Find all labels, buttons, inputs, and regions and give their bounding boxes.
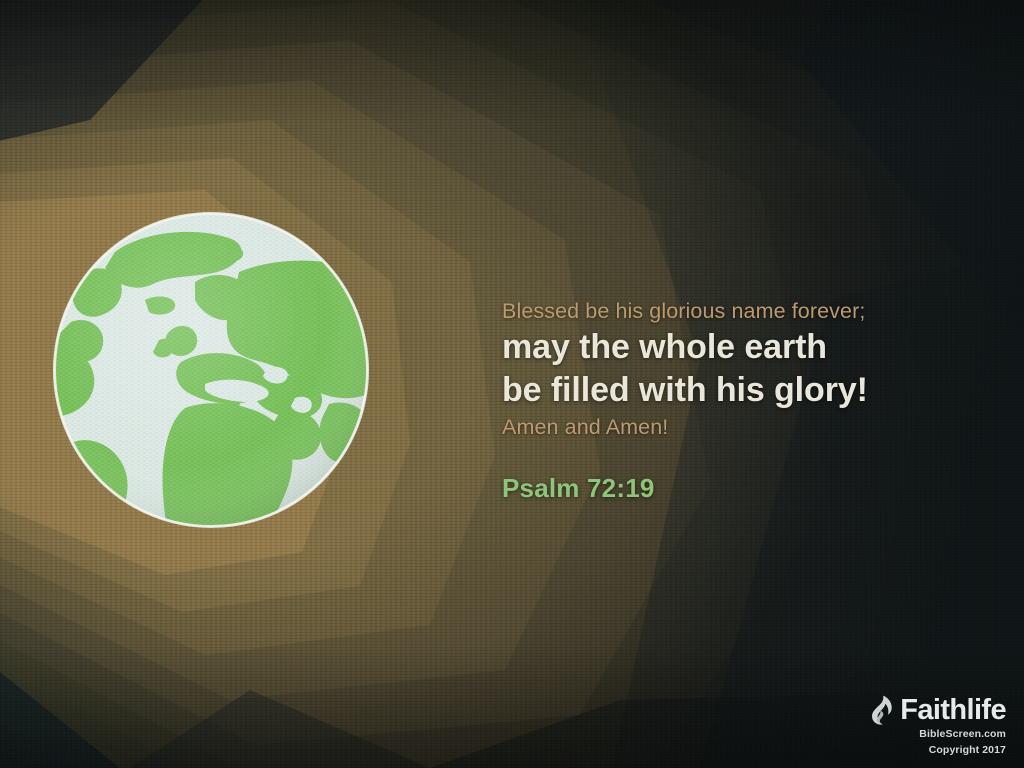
verse-intro-line: Blessed be his glorious name forever;: [502, 296, 982, 326]
flame-icon: [868, 695, 894, 725]
brand-logo-row: Faithlife: [868, 695, 1006, 725]
verse-main-line-2: be filled with his glory!: [502, 369, 982, 412]
brand-site: BibleScreen.com: [868, 728, 1006, 741]
verse-main-line-1: may the whole earth: [502, 326, 982, 369]
earth-globe-icon: [53, 212, 369, 528]
slide-canvas: Blessed be his glorious name forever; ma…: [0, 0, 1024, 768]
brand-name: Faithlife: [900, 695, 1006, 725]
verse-reference: Psalm 72:19: [502, 473, 655, 504]
brand-copyright: Copyright 2017: [868, 744, 1006, 757]
brand-block: Faithlife BibleScreen.com Copyright 2017: [868, 695, 1006, 756]
verse-text-block: Blessed be his glorious name forever; ma…: [502, 296, 982, 443]
verse-closing-line: Amen and Amen!: [502, 412, 982, 443]
earth-globe-illustration: [53, 212, 369, 528]
